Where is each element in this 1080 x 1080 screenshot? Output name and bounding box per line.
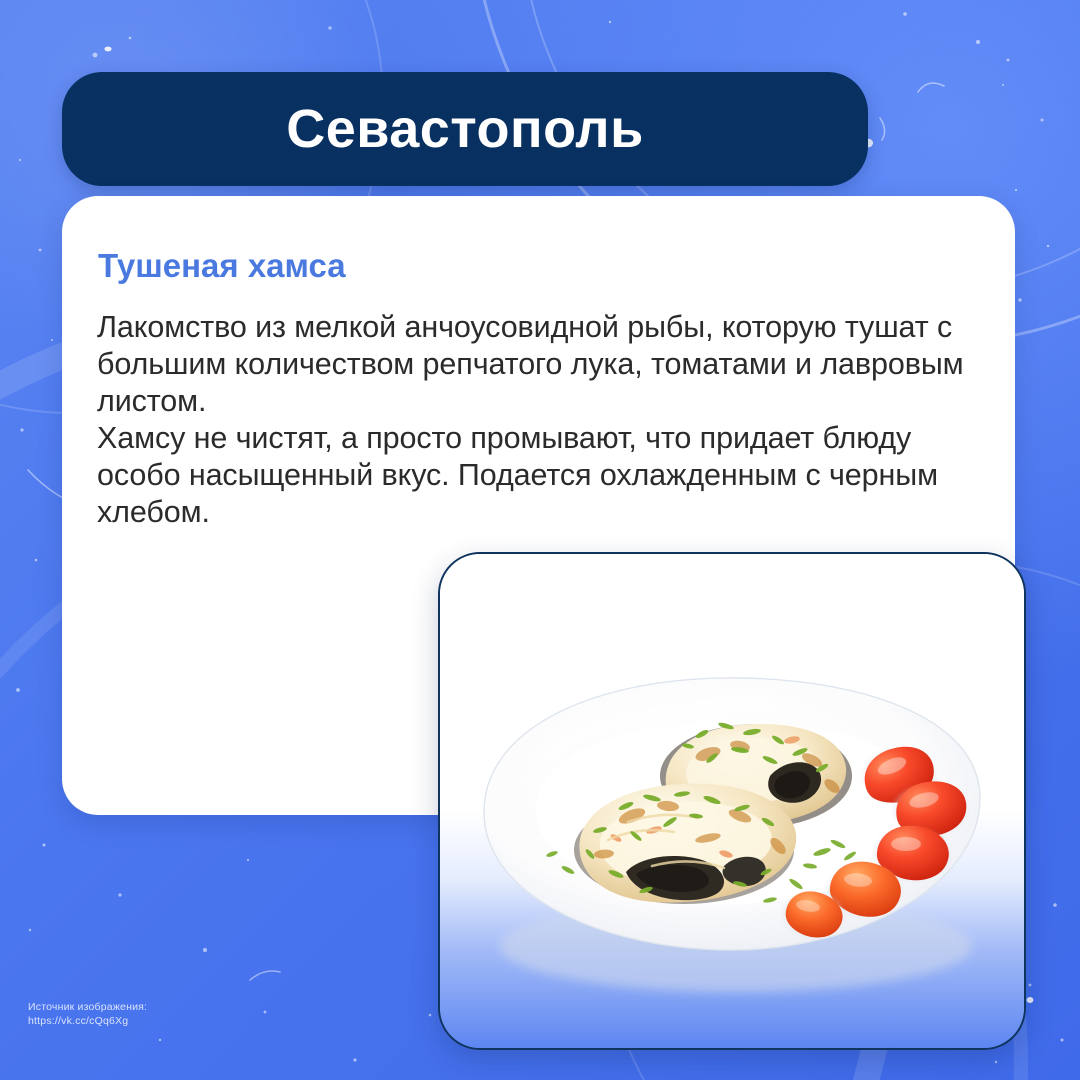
dish-paragraph-1: Лакомство из мелкой анчоусовидной рыбы, … — [97, 309, 987, 420]
slide-root: Севастополь Тушеная хамса Лакомство из м… — [0, 0, 1080, 1080]
dish-paragraph-2: Хамсу не чистят, а просто промывают, что… — [97, 420, 987, 531]
title-banner: Севастополь — [62, 72, 868, 186]
attribution-url[interactable]: https://vk.cc/cQq6Xg — [28, 1014, 147, 1028]
page-title: Севастополь — [286, 102, 644, 156]
dish-description: Лакомство из мелкой анчоусовидной рыбы, … — [97, 309, 987, 531]
dish-heading: Тушеная хамса — [98, 248, 346, 284]
dish-photo — [440, 554, 1024, 1048]
dish-photo-card — [438, 552, 1026, 1050]
attribution-label: Источник изображения: — [28, 1000, 147, 1014]
image-attribution: Источник изображения: https://vk.cc/cQq6… — [28, 1000, 147, 1028]
